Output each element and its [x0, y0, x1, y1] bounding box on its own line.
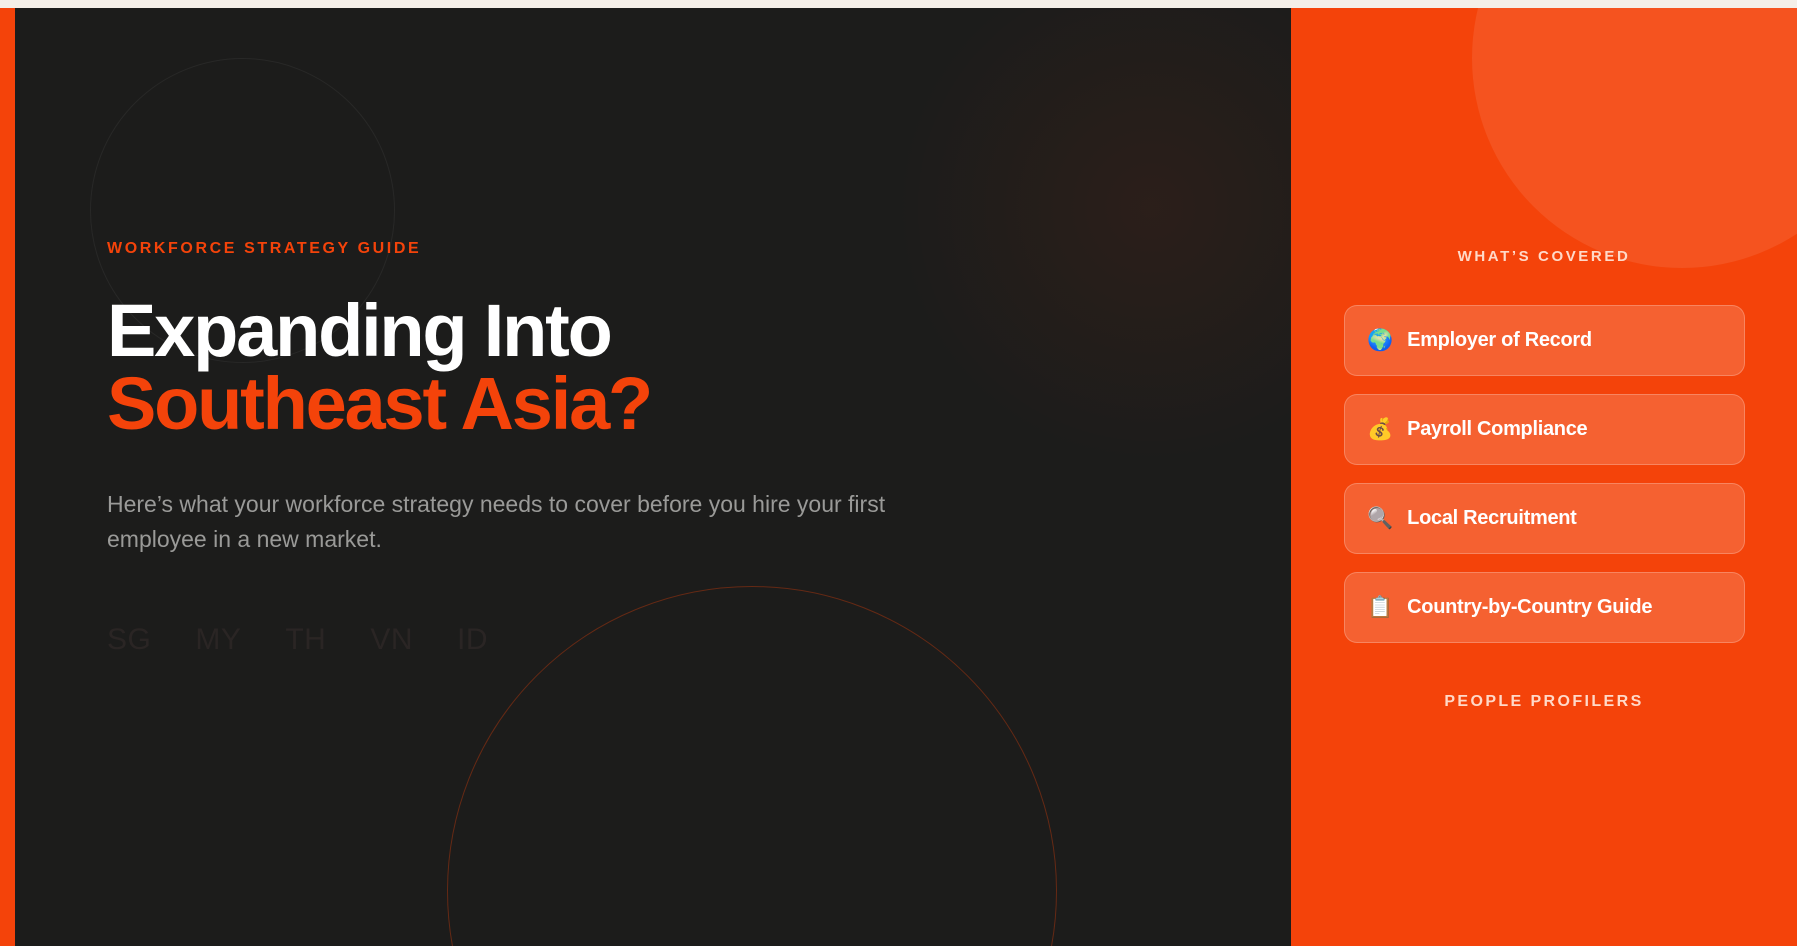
country-code-id: ID: [457, 623, 488, 657]
page-title: Expanding Into Southeast Asia?: [107, 294, 1107, 441]
coverage-card-local-recruitment[interactable]: 🔍 Local Recruitment: [1344, 483, 1745, 554]
coverage-card-label: Country-by-Country Guide: [1407, 596, 1652, 619]
money-bag-icon: 💰: [1367, 419, 1393, 440]
hero-panel: WORKFORCE STRATEGY GUIDE Expanding Into …: [15, 8, 1291, 946]
country-code-sg: SG: [107, 623, 151, 657]
decorative-circle-orange: [1472, 8, 1797, 268]
headline-line-1: Expanding Into: [107, 289, 611, 372]
coverage-card-employer-of-record[interactable]: 🌍 Employer of Record: [1344, 305, 1745, 376]
coverage-panel: WHAT’S COVERED 🌍 Employer of Record 💰 Pa…: [1291, 8, 1797, 946]
coverage-card-label: Employer of Record: [1407, 329, 1592, 352]
country-code-vn: VN: [370, 623, 413, 657]
hero-content: WORKFORCE STRATEGY GUIDE Expanding Into …: [107, 240, 1107, 657]
left-accent-bar: [0, 8, 15, 946]
globe-icon: 🌍: [1367, 330, 1393, 351]
coverage-card-label: Payroll Compliance: [1407, 418, 1587, 441]
hero-subtitle: Here’s what your workforce strategy need…: [107, 487, 957, 557]
country-code-my: MY: [195, 623, 241, 657]
country-code-th: TH: [285, 623, 326, 657]
brand-wordmark: PEOPLE PROFILERS: [1291, 693, 1797, 711]
poster-canvas: WORKFORCE STRATEGY GUIDE Expanding Into …: [0, 0, 1797, 946]
panel-kicker: WHAT’S COVERED: [1291, 248, 1797, 265]
country-code-list: SG MY TH VN ID: [107, 623, 1107, 657]
magnifying-glass-icon: 🔍: [1367, 508, 1393, 529]
coverage-card-label: Local Recruitment: [1407, 507, 1576, 530]
headline-line-2: Southeast Asia?: [107, 367, 1107, 440]
hero-eyebrow: WORKFORCE STRATEGY GUIDE: [107, 240, 1107, 258]
top-edge-strip: [0, 0, 1797, 8]
clipboard-icon: 📋: [1367, 597, 1393, 618]
coverage-card-country-by-country-guide[interactable]: 📋 Country-by-Country Guide: [1344, 572, 1745, 643]
coverage-card-list: 🌍 Employer of Record 💰 Payroll Complianc…: [1344, 305, 1745, 643]
coverage-card-payroll-compliance[interactable]: 💰 Payroll Compliance: [1344, 394, 1745, 465]
